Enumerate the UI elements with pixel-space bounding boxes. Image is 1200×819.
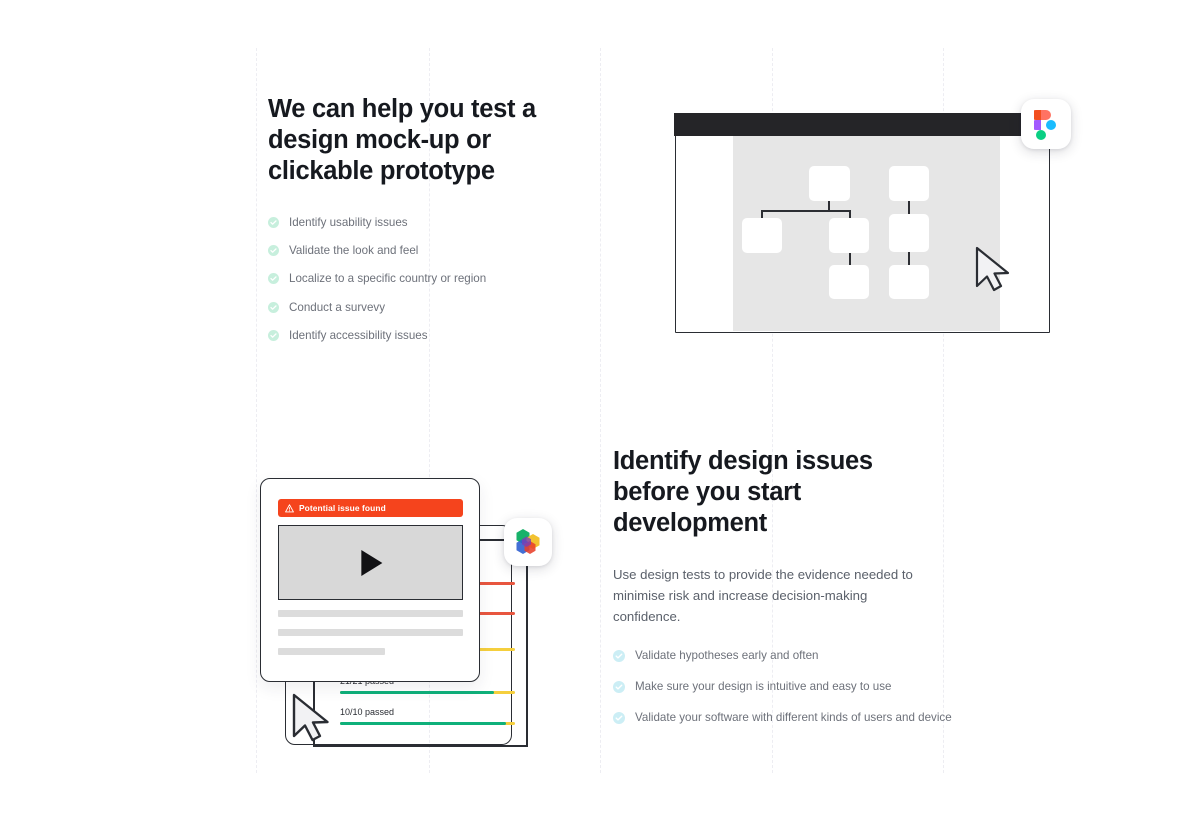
text-placeholder-line: [278, 648, 385, 655]
list-item: Identify usability issues: [268, 216, 598, 230]
list-item: Validate the look and feel: [268, 244, 598, 258]
design-tool-window: [675, 114, 1050, 333]
section-title: Identify design issues before you start …: [613, 446, 943, 539]
design-canvas: [733, 136, 1000, 331]
video-placeholder[interactable]: [278, 525, 463, 600]
figma-logo-badge: [1021, 99, 1071, 149]
check-circle-icon: [613, 650, 625, 662]
page-root: We can help you test a design mock-up or…: [0, 0, 1200, 819]
progress-label: 10/10 passed: [340, 707, 394, 717]
check-circle-icon: [268, 302, 279, 313]
section-paragraph: Use design tests to provide the evidence…: [613, 564, 933, 627]
connector-line: [313, 745, 527, 747]
list-item: Make sure your design is intuitive and e…: [613, 680, 953, 694]
connector-line: [526, 565, 528, 747]
check-circle-icon: [268, 330, 279, 341]
check-circle-icon: [613, 712, 625, 724]
wireframe-connector: [849, 253, 851, 265]
wireframe-node: [889, 265, 929, 299]
check-circle-icon: [613, 681, 625, 693]
section-identify-design-issues: Identify design issues before you start …: [613, 446, 953, 742]
check-circle-icon: [268, 273, 279, 284]
arrow-cursor-icon: [973, 245, 1019, 300]
arrow-cursor-icon: [289, 691, 341, 752]
text-placeholder-line: [278, 629, 463, 636]
warning-triangle-icon: [285, 504, 294, 513]
wireframe-connector: [761, 210, 851, 212]
list-item: Localize to a specific country or region: [268, 272, 598, 286]
list-item: Validate your software with different ki…: [613, 711, 953, 725]
usability-report-card: Potential issue found: [260, 478, 480, 682]
list-item-label: Validate the look and feel: [289, 244, 418, 258]
play-icon[interactable]: [361, 550, 382, 576]
list-item-label: Localize to a specific country or region: [289, 272, 486, 286]
list-item: Identify accessibility issues: [268, 329, 598, 343]
check-circle-icon: [268, 245, 279, 256]
usability-report-illustration: 21/21 passed 10/10 passed Potential issu…: [255, 468, 555, 768]
progress-fill: [340, 722, 506, 725]
list-item: Conduct a survevy: [268, 301, 598, 315]
wireframe-node: [829, 218, 869, 253]
list-item-label: Identify accessibility issues: [289, 329, 428, 343]
list-item-label: Validate your software with different ki…: [635, 711, 952, 725]
annotation-line: [477, 648, 515, 651]
benefit-list-design-testing: Identify usability issues Validate the l…: [268, 216, 598, 343]
list-item-label: Validate hypotheses early and often: [635, 649, 818, 663]
wireframe-connector: [908, 252, 910, 265]
list-item-label: Identify usability issues: [289, 216, 408, 230]
wireframe-connector: [908, 201, 910, 214]
status-badge: Potential issue found: [278, 499, 463, 517]
wireframe-node: [889, 214, 929, 252]
wireframe-node: [889, 166, 929, 201]
hexagon-cluster-icon: [514, 528, 542, 556]
status-badge-label: Potential issue found: [299, 503, 386, 513]
figma-logo-icon: [1034, 110, 1058, 140]
benefit-list-design-issues: Validate hypotheses early and often Make…: [613, 649, 953, 725]
list-item-label: Make sure your design is intuitive and e…: [635, 680, 892, 694]
page-title: We can help you test a design mock-up or…: [268, 94, 590, 187]
list-item-label: Conduct a survevy: [289, 301, 385, 315]
section-design-testing: We can help you test a design mock-up or…: [268, 94, 598, 357]
window-titlebar: [674, 113, 1049, 136]
wireframe-node: [829, 265, 869, 299]
layout-guide-line-3: [600, 48, 602, 773]
hexagon-cluster-badge: [504, 518, 552, 566]
check-circle-icon: [268, 217, 279, 228]
annotation-line: [477, 612, 515, 615]
list-item: Validate hypotheses early and often: [613, 649, 953, 663]
annotation-line: [477, 582, 515, 585]
progress-fill: [340, 691, 494, 694]
wireframe-node: [809, 166, 850, 201]
wireframe-node: [742, 218, 782, 253]
text-placeholder-line: [278, 610, 463, 617]
